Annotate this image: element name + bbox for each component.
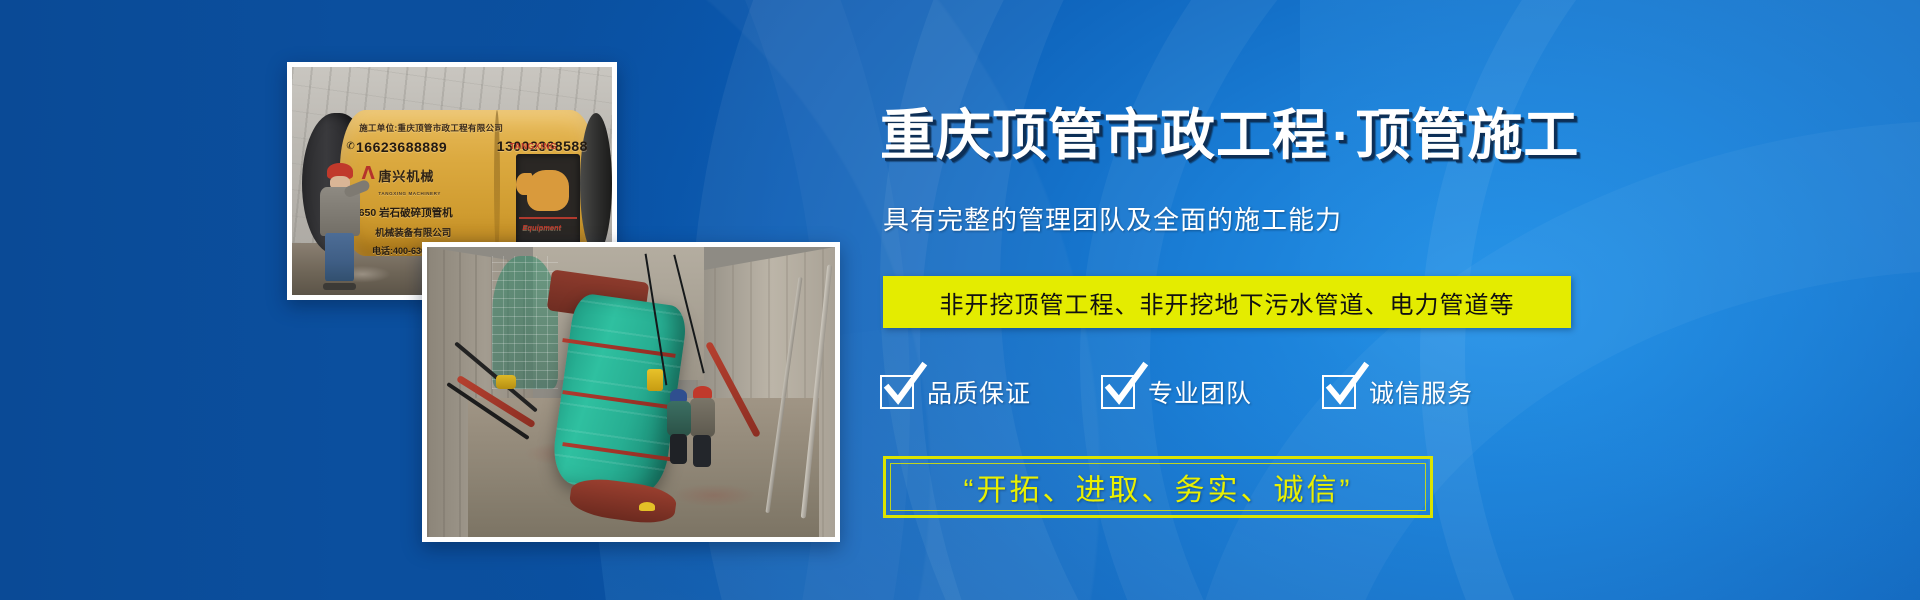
banner-content-column: 重庆顶管市政工程·顶管施工 具有完整的管理团队及全面的施工能力 非开挖顶管工程、… bbox=[880, 0, 1920, 600]
trench-construction-photo bbox=[422, 242, 840, 542]
worker-shoes bbox=[323, 283, 356, 291]
worker-body bbox=[690, 398, 715, 437]
photo-frame-inner bbox=[427, 247, 835, 537]
worker-legs bbox=[693, 435, 711, 467]
title-part-2: 顶管施工 bbox=[1355, 104, 1579, 166]
checkbox-check-icon bbox=[880, 375, 914, 409]
machine-brand-cn: 唐兴机械 bbox=[378, 170, 434, 183]
feature-item-team: 专业团队 bbox=[1101, 374, 1252, 410]
worker-legs bbox=[670, 434, 686, 464]
machine-company-text: 施工单位:重庆顶管市政工程有限公司 bbox=[359, 124, 503, 133]
worker-figure bbox=[688, 386, 717, 467]
feature-item-quality: 品质保证 bbox=[880, 374, 1031, 410]
slogan-box: “开拓、进取、务实、诚信” bbox=[883, 456, 1433, 518]
yellow-valve bbox=[496, 375, 516, 389]
page-title: 重庆顶管市政工程·顶管施工 bbox=[880, 108, 1579, 163]
tangxing-badge-word: Equipment bbox=[522, 224, 561, 232]
machine-maker-text: 机械装备有限公司 bbox=[375, 229, 451, 239]
feature-item-service: 诚信服务 bbox=[1322, 374, 1473, 410]
rhino-icon bbox=[527, 170, 569, 211]
worker-figure-2 bbox=[666, 389, 693, 464]
page-subtitle: 具有完整的管理团队及全面的施工能力 bbox=[883, 200, 1342, 237]
worker-body bbox=[667, 401, 690, 436]
title-part-1: 重庆顶管市政工程 bbox=[880, 104, 1328, 166]
services-highlight-text: 非开挖顶管工程、非开挖地下污水管道、电力管道等 bbox=[940, 285, 1515, 320]
tangxing-badge-brand: TANGXING bbox=[510, 142, 557, 151]
checkbox-check-icon bbox=[1101, 375, 1135, 409]
title-separator-dot: · bbox=[1332, 104, 1351, 166]
machine-brand-en: TANGXING MACHINERY bbox=[378, 192, 441, 197]
yellow-helmet-icon bbox=[639, 502, 655, 511]
worker-figure bbox=[318, 163, 363, 291]
machine-model-text: 1650 岩石破碎顶管机 bbox=[353, 208, 453, 219]
worker-jeans bbox=[325, 233, 355, 282]
feature-label: 品质保证 bbox=[927, 374, 1031, 410]
feature-label: 诚信服务 bbox=[1369, 374, 1473, 410]
blue-helmet-icon bbox=[670, 389, 687, 402]
machine-end-ring bbox=[580, 113, 612, 254]
badge-divider bbox=[519, 217, 577, 219]
red-helmet-icon bbox=[693, 386, 711, 399]
checkbox-check-icon bbox=[1322, 375, 1356, 409]
slogan-text: “开拓、进取、务实、诚信” bbox=[964, 465, 1353, 509]
green-rebar-cage bbox=[492, 256, 557, 389]
feature-list: 品质保证 专业团队 诚信服务 bbox=[880, 374, 1473, 410]
services-highlight-bar: 非开挖顶管工程、非开挖地下污水管道、电力管道等 bbox=[883, 276, 1571, 328]
promotional-banner: 施工单位:重庆顶管市政工程有限公司 ✆ 16623688889 13002368… bbox=[0, 0, 1920, 600]
yellow-hoist-block bbox=[647, 369, 663, 391]
feature-label: 专业团队 bbox=[1148, 374, 1252, 410]
machine-phone-1: 16623688889 bbox=[356, 140, 447, 154]
phone-icon: ✆ bbox=[346, 141, 354, 152]
